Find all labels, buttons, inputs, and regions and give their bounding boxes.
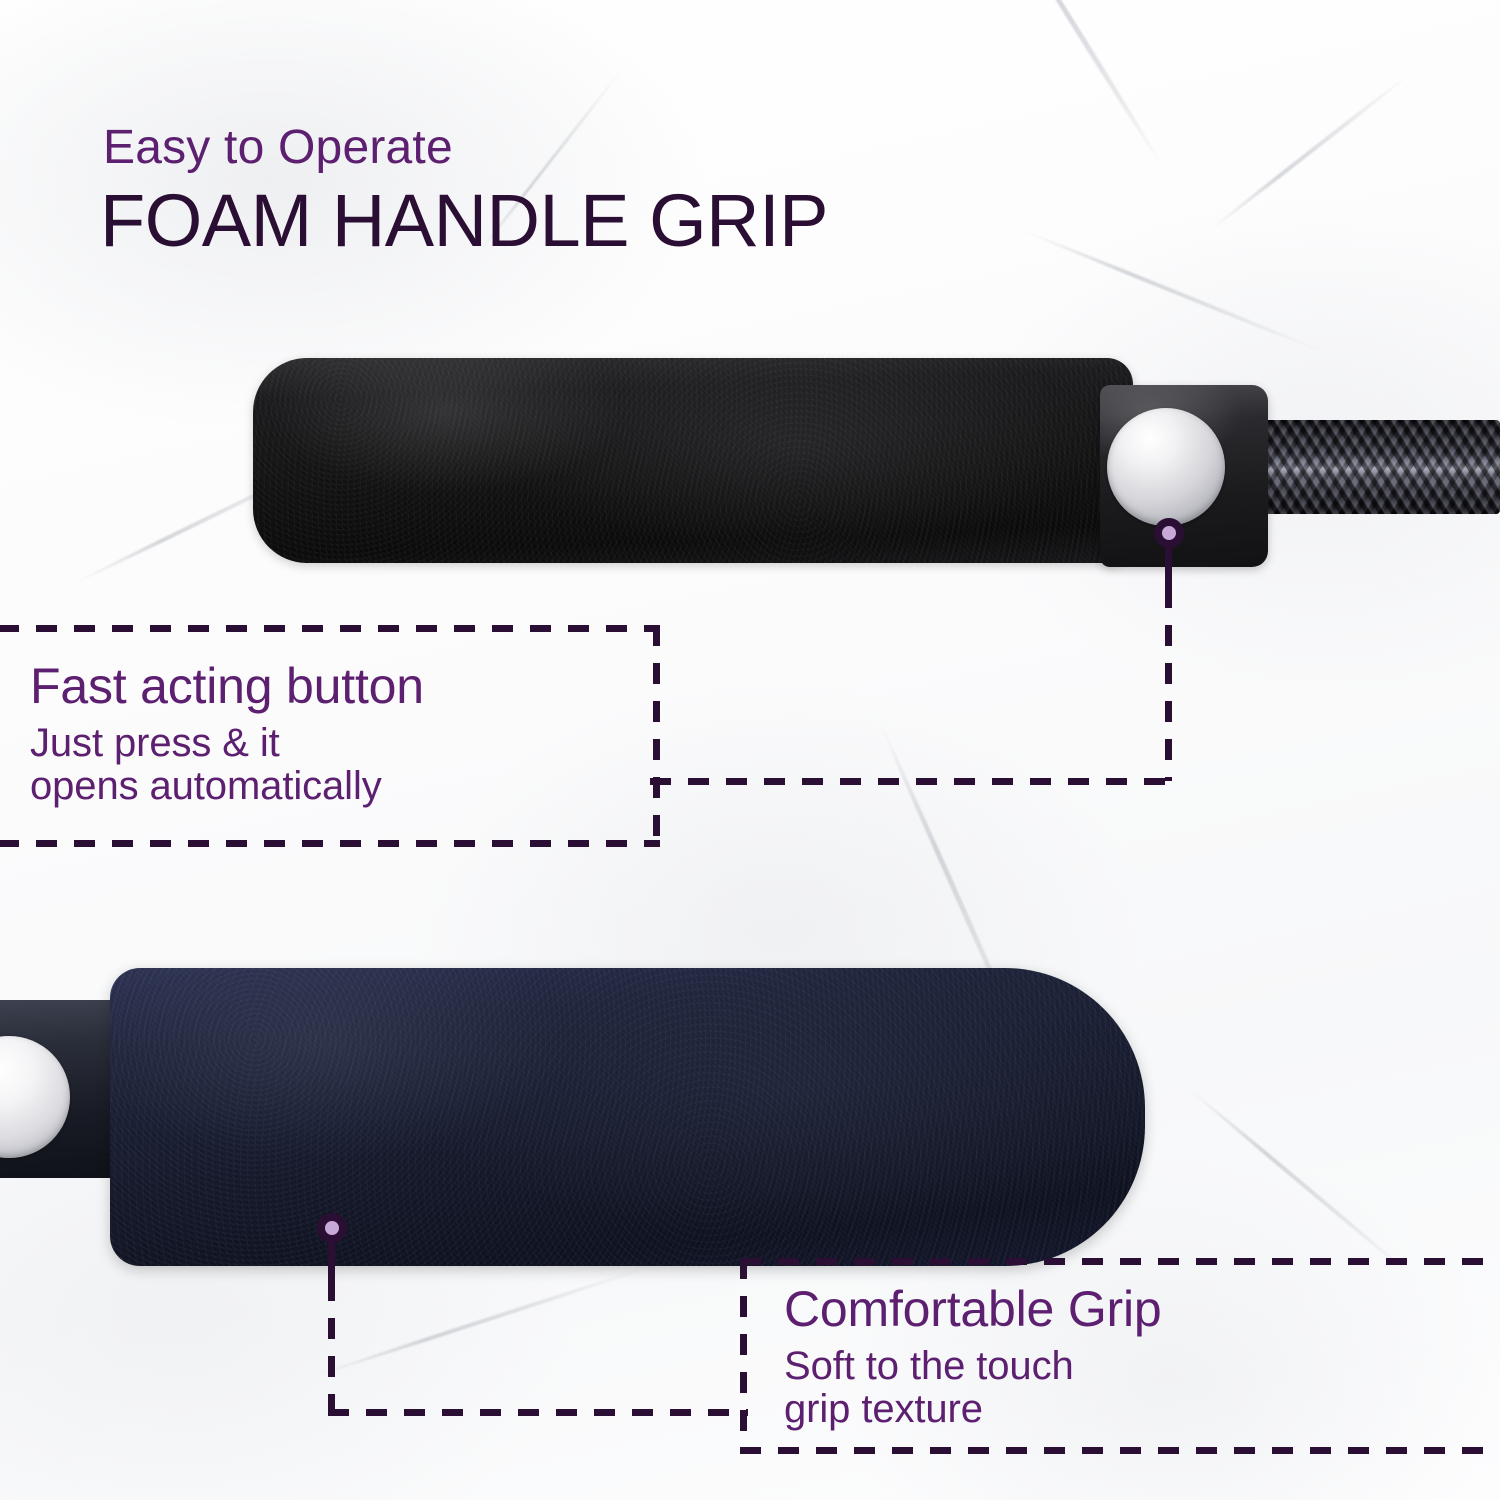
connector-vertical-button	[1165, 587, 1172, 781]
callout-bottom-border	[740, 1447, 1500, 1454]
callout-fast-acting-button: Fast acting button Just press & it opens…	[0, 625, 660, 847]
callout-top-border	[740, 1258, 1500, 1265]
grip-marker-dot[interactable]	[317, 1213, 347, 1243]
callout-title: Fast acting button	[30, 657, 424, 715]
eyebrow-text: Easy to Operate	[103, 120, 453, 175]
callout-subtitle: Soft to the touch grip texture	[784, 1345, 1074, 1431]
umbrella-shaft-image	[1262, 420, 1500, 514]
callout-right-border	[653, 625, 660, 847]
page-title: FOAM HANDLE GRIP	[100, 178, 828, 263]
infographic-canvas: Easy to Operate FOAM HANDLE GRIP Fast ac…	[0, 0, 1500, 1500]
marker-stem-grip	[328, 1240, 335, 1280]
callout-left-border	[740, 1258, 747, 1454]
callout-subtitle: Just press & it opens automatically	[30, 722, 382, 808]
foam-grip-top-image	[253, 358, 1133, 563]
button-marker-dot[interactable]	[1154, 518, 1184, 548]
callout-comfortable-grip: Comfortable Grip Soft to the touch grip …	[740, 1258, 1500, 1454]
callout-top-border	[0, 625, 660, 632]
connector-vertical-grip	[328, 1280, 335, 1412]
push-button-top-image	[1107, 408, 1225, 526]
marker-stem-button	[1165, 545, 1172, 587]
callout-title: Comfortable Grip	[784, 1280, 1162, 1338]
foam-grip-bottom-image	[110, 968, 1145, 1266]
connector-horizontal-grip	[328, 1409, 748, 1416]
connector-horizontal-button	[650, 778, 1172, 785]
callout-bottom-border	[0, 840, 660, 847]
